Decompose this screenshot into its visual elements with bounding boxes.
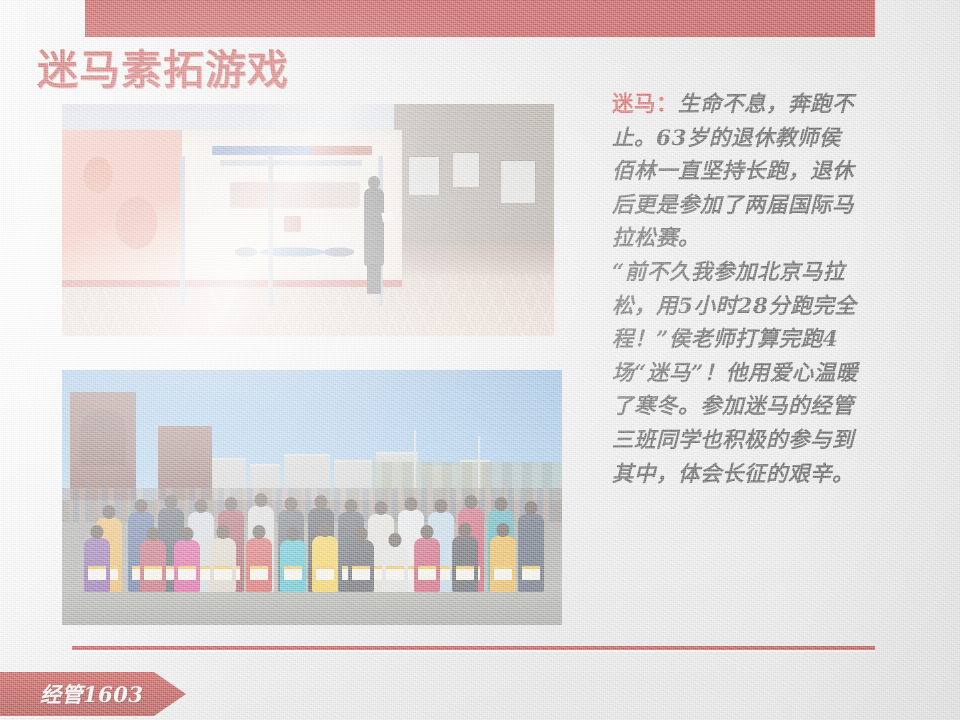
footer-class-badge: 经管1603 [0, 672, 186, 716]
presentation-slide: 迷马素拓游戏 [0, 0, 960, 720]
sponsor-logos [222, 242, 372, 262]
event-backdrop-banner [62, 130, 402, 287]
body-text-column: 迷马：生命不息，奔跑不止。63岁的退休教师侯佰林一直坚持长跑，退休后更是参加了两… [612, 88, 858, 491]
page-title: 迷马素拓游戏 [37, 44, 289, 96]
paragraph-1: 迷马：生命不息，奔跑不止。63岁的退休教师侯佰林一直坚持长跑，退休后更是参加了两… [612, 88, 858, 256]
header-red-banner [85, 0, 875, 37]
paragraph-2: “前不久我参加北京马拉松，用5小时28分跑完全程！”侯老师打算完跑4场“迷马”！… [612, 256, 858, 491]
photo-opening-ceremony [62, 104, 554, 336]
host-speaker [362, 176, 386, 294]
flag-artwork [62, 130, 182, 280]
lead-label: 迷马： [612, 92, 678, 117]
photo-group-runners [62, 370, 562, 625]
student-group [62, 474, 562, 592]
footer-class-label: 经管1603 [40, 679, 143, 709]
footer-divider [72, 646, 875, 650]
